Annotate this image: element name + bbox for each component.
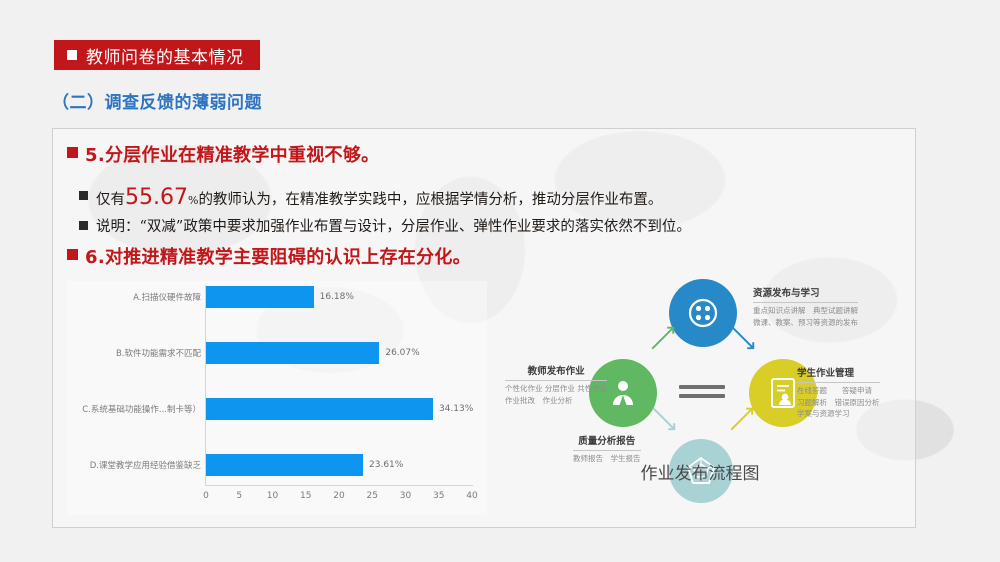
teacher-icon xyxy=(607,377,639,409)
slide-background: 教师问卷的基本情况 （二）调查反馈的薄弱问题 5.分层作业在精准教学中重视不够。… xyxy=(0,0,1000,562)
chart-bar[interactable] xyxy=(206,454,363,476)
dots-circle-icon xyxy=(688,298,718,328)
chart-plot-area: A.扫描仪硬件故障B.软件功能需求不匹配C.系统基础功能操作...制卡等）D.课… xyxy=(67,281,487,515)
section-tag: 教师问卷的基本情况 xyxy=(54,40,260,70)
square-bullet-icon xyxy=(79,221,88,230)
point5-detail-percent: % xyxy=(188,194,198,207)
point5-detail-pre: 仅有 xyxy=(96,192,125,208)
diagram-caption-resource: 资源发布与学习 重点知识点讲解 典型试题讲解 微课、教案、预习等资源的发布 xyxy=(753,285,858,328)
chart-x-tick: 25 xyxy=(367,491,378,501)
point5-title: 5.分层作业在精准教学中重视不够。 xyxy=(67,141,379,167)
diagram-caption-student-line1: 在线答题 答疑申请 xyxy=(797,385,880,397)
chart-bar-value: 26.07% xyxy=(385,348,419,358)
chart-bar[interactable] xyxy=(206,398,433,420)
section-tag-label: 教师问卷的基本情况 xyxy=(86,43,244,68)
diagram-caption-teacher-line2: 作业批改 作业分析 xyxy=(505,395,607,407)
chart-x-tick: 10 xyxy=(267,491,278,501)
diagram-caption-resource-heading: 资源发布与学习 xyxy=(753,285,858,303)
chart-x-tick: 40 xyxy=(466,491,477,501)
point5-title-label: 5.分层作业在精准教学中重视不够。 xyxy=(85,141,379,167)
diagram-caption-teacher: 教师发布作业 个性化作业 分层作业 共性作业 作业批改 作业分析 xyxy=(505,363,607,406)
chart-x-tick: 20 xyxy=(333,491,344,501)
diagram-caption-resource-line1: 重点知识点讲解 典型试题讲解 xyxy=(753,305,858,317)
square-bullet-icon xyxy=(67,50,77,60)
diagram-caption-quality-heading: 质量分析报告 xyxy=(573,433,641,451)
point5-note: 说明：“双减”政策中要求加强作业布置与设计，分层作业、弹性作业要求的落实依然不到… xyxy=(79,215,691,236)
point5-detail-number: 55.67 xyxy=(125,185,188,210)
diagram-caption-student-line2: 习题解析 错误原因分析 xyxy=(797,397,880,409)
chart-bar-value: 34.13% xyxy=(439,404,473,414)
diagram-caption-resource-line2: 微课、教案、预习等资源的发布 xyxy=(753,317,858,329)
point5-note-label: 说明：“双减”政策中要求加强作业布置与设计，分层作业、弹性作业要求的落实依然不到… xyxy=(96,215,691,236)
chart-x-tick: 0 xyxy=(203,491,209,501)
point5-detail: 仅有55.67%的教师认为，在精准教学实践中，应根据学情分析，推动分层作业布置。 xyxy=(79,185,662,210)
diagram-caption-student: 学生作业管理 在线答题 答疑申请 习题解析 错误原因分析 学案与资源学习 xyxy=(797,365,880,420)
chart-x-tick: 15 xyxy=(300,491,311,501)
square-bullet-icon xyxy=(67,147,78,158)
chart-x-tick: 5 xyxy=(236,491,242,501)
diagram-title: 作业发布流程图 xyxy=(497,459,903,484)
chart-bar-value: 16.18% xyxy=(320,292,354,302)
chart-category-label: A.扫描仪硬件故障 xyxy=(133,291,201,303)
point5-detail-post: 的教师认为，在精准教学实践中，应根据学情分析，推动分层作业布置。 xyxy=(198,192,662,208)
obstacle-bar-chart: A.扫描仪硬件故障B.软件功能需求不匹配C.系统基础功能操作...制卡等）D.课… xyxy=(67,281,487,515)
document-person-icon xyxy=(768,377,798,409)
content-panel: 5.分层作业在精准教学中重视不够。 仅有55.67%的教师认为，在精准教学实践中… xyxy=(52,128,916,528)
chart-category-label: B.软件功能需求不匹配 xyxy=(116,347,201,359)
chart-bar[interactable] xyxy=(206,286,314,308)
chart-x-tick: 30 xyxy=(400,491,411,501)
diagram-caption-student-line3: 学案与资源学习 xyxy=(797,408,880,420)
point6-title: 6.对推进精准教学主要阻碍的认识上存在分化。 xyxy=(67,243,471,269)
equals-arrows-icon xyxy=(679,383,727,403)
point6-title-label: 6.对推进精准教学主要阻碍的认识上存在分化。 xyxy=(85,243,471,269)
chart-x-tick: 35 xyxy=(433,491,444,501)
chart-category-label: C.系统基础功能操作...制卡等） xyxy=(82,403,201,415)
diagram-caption-student-heading: 学生作业管理 xyxy=(797,365,880,383)
chart-x-axis xyxy=(205,485,473,486)
square-bullet-icon xyxy=(79,191,88,200)
page-subtitle: （二）调查反馈的薄弱问题 xyxy=(52,88,262,113)
diagram-caption-teacher-line1: 个性化作业 分层作业 共性作业 xyxy=(505,383,607,395)
square-bullet-icon xyxy=(67,249,78,260)
diagram-caption-teacher-heading: 教师发布作业 xyxy=(505,363,607,381)
chart-category-label: D.课堂教学应用经验借鉴缺乏 xyxy=(90,459,201,471)
chart-bar-value: 23.61% xyxy=(369,460,403,470)
chart-bar[interactable] xyxy=(206,342,379,364)
